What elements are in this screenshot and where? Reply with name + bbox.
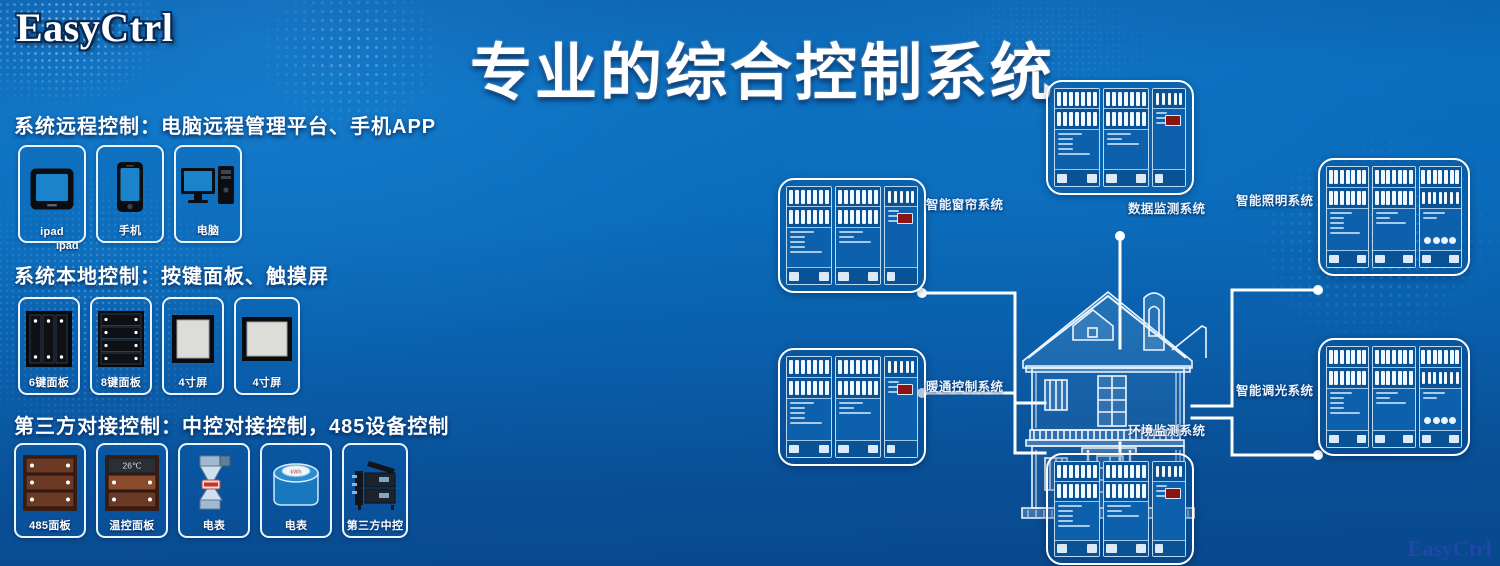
device-card-6key-panel[interactable]: 6键面板 [18, 297, 80, 395]
node-label-curtain: 智能窗帘系统 [926, 194, 1003, 213]
section-heading-remote-control: 系统远程控制：电脑远程管理平台、手机APP [14, 110, 436, 139]
device-label: 4寸屏 [178, 374, 207, 390]
node-label-hvac: 暖通控制系统 [926, 376, 1003, 395]
section-heading-third-party: 第三方对接控制：中控对接控制，485设备控制 [14, 410, 449, 439]
din-module [1372, 166, 1415, 268]
module-box-environment[interactable] [1046, 453, 1194, 565]
din-module [1326, 346, 1369, 448]
halftone-dots-top-mid [210, 0, 470, 190]
din-module [835, 356, 881, 458]
six-key-panel-icon [24, 305, 74, 372]
touch-screen-large-icon [240, 305, 294, 372]
device-label: 485面板 [29, 517, 71, 533]
section-heading-local-control: 系统本地控制：按键面板、触摸屏 [14, 260, 329, 289]
smartphone-icon [102, 153, 158, 220]
din-module-relay [1419, 166, 1462, 268]
device-card-third-party-controller[interactable]: 第三方中控 [342, 443, 408, 538]
din-module [835, 186, 881, 285]
ipad-sub-caption: ipad [56, 240, 79, 252]
device-label: 电表 [203, 517, 226, 533]
device-label: 电表 [285, 517, 308, 533]
device-card-phone[interactable]: 手机 [96, 145, 164, 243]
third-party-central-control-icon [348, 451, 402, 515]
din-module-display [1152, 461, 1186, 557]
device-card-8key-panel[interactable]: 8键面板 [90, 297, 152, 395]
device-card-power-meter[interactable]: 电表 [178, 443, 250, 538]
thermostat-panel-icon: 26℃ [102, 451, 162, 515]
system-topology-diagram: 智能窗帘系统 数据监测系统 智能照明系统 暖通控制系统 环境监测系统 智能调光系… [740, 58, 1500, 566]
device-card-computer[interactable]: 电脑 [174, 145, 242, 243]
desktop-computer-icon [180, 153, 236, 220]
power-meter-icon [184, 451, 244, 515]
thermostat-display: 26℃ [122, 461, 141, 471]
device-card-4inch-screen-b[interactable]: 4寸屏 [234, 297, 300, 395]
node-label-lighting: 智能照明系统 [1236, 190, 1313, 209]
device-label: 6键面板 [29, 374, 69, 390]
din-module [1372, 346, 1415, 448]
brand-logo: EasyCtrl [16, 4, 173, 51]
device-card-thermostat-panel[interactable]: 26℃ 温控面板 [96, 443, 168, 538]
device-label: ipad [40, 226, 64, 238]
din-module [786, 356, 832, 458]
din-module [1103, 461, 1149, 557]
device-label: 电脑 [197, 222, 220, 238]
node-label-data: 数据监测系统 [1128, 198, 1205, 217]
module-box-hvac[interactable] [778, 348, 926, 466]
device-label: 手机 [119, 222, 142, 238]
din-module [1326, 166, 1369, 268]
din-module [1103, 88, 1149, 187]
svg-text:kWh: kWh [291, 469, 302, 475]
device-label: 8键面板 [101, 374, 141, 390]
module-box-lighting[interactable] [1318, 158, 1470, 276]
device-row-local-control: 6键面板 8键面板 [18, 297, 300, 395]
din-module [786, 186, 832, 285]
touch-screen-small-icon [168, 305, 218, 372]
device-label: 4寸屏 [252, 374, 281, 390]
device-row-third-party: 485面板 26℃ 温控面板 [14, 443, 408, 538]
din-module-display [1152, 88, 1186, 187]
device-label: 第三方中控 [347, 517, 404, 533]
tablet-icon [24, 153, 80, 224]
poster-canvas: EasyCtrl 专业的综合控制系统 系统远程控制：电脑远程管理平台、手机APP… [0, 0, 1500, 566]
eight-key-panel-icon [96, 305, 146, 372]
device-card-4inch-screen-a[interactable]: 4寸屏 [162, 297, 224, 395]
din-module [1054, 88, 1100, 187]
node-label-dimming: 智能调光系统 [1236, 380, 1313, 399]
node-label-environment: 环境监测系统 [1128, 420, 1205, 439]
din-module-relay [1419, 346, 1462, 448]
device-label: 温控面板 [109, 517, 154, 533]
module-box-curtain[interactable] [778, 178, 926, 293]
module-box-dimming[interactable] [1318, 338, 1470, 456]
rs485-panel-icon [20, 451, 80, 515]
device-row-remote-control: ipad 手机 [18, 145, 242, 243]
din-module [1054, 461, 1100, 557]
din-module-display [884, 186, 918, 285]
round-power-meter-icon: kWh [266, 451, 326, 515]
watermark: EasyCtrl [1408, 536, 1492, 562]
din-module-display [884, 356, 918, 458]
module-box-data[interactable] [1046, 80, 1194, 195]
device-card-round-power-meter[interactable]: kWh 电表 [260, 443, 332, 538]
device-card-ipad[interactable]: ipad [18, 145, 86, 243]
device-card-485-panel[interactable]: 485面板 [14, 443, 86, 538]
